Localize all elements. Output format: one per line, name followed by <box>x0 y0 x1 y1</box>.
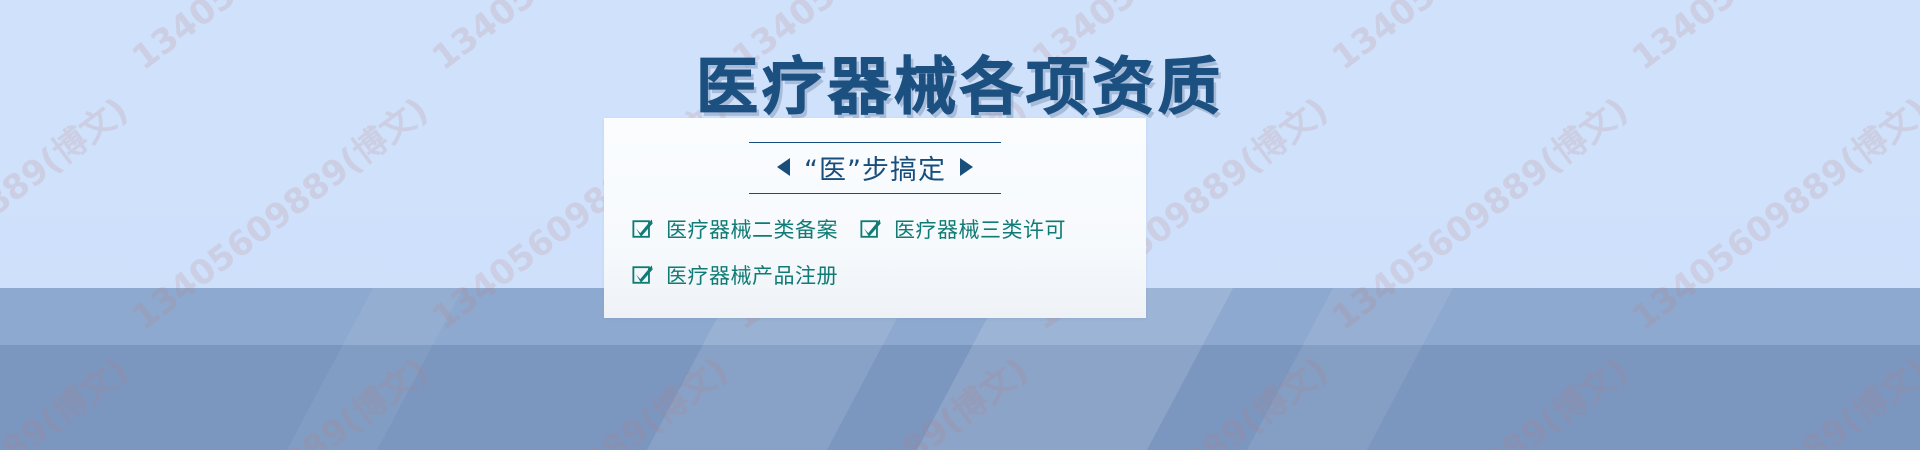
checklist-item[interactable]: 医疗器械产品注册 <box>632 260 838 290</box>
checkbox-checked-icon <box>632 264 654 286</box>
checklist-item-label: 医疗器械产品注册 <box>666 260 838 290</box>
checklist: 医疗器械二类备案 医疗器械三类许可 医疗器械产品注册 <box>604 214 1146 306</box>
checklist-row: 医疗器械产品注册 <box>632 260 1118 290</box>
header-rule-top <box>749 142 1001 143</box>
header-rule-bottom <box>749 193 1001 194</box>
checklist-item[interactable]: 医疗器械三类许可 <box>860 214 1066 244</box>
checkbox-checked-icon <box>860 218 882 240</box>
checklist-item[interactable]: 医疗器械二类备案 <box>632 214 838 244</box>
page-title: 医疗器械各项资质 <box>0 36 1920 126</box>
checkbox-checked-icon <box>632 218 654 240</box>
qualification-card: “医”步搞定 医疗器械二类备案 医疗器械三类许可 <box>604 118 1146 318</box>
checklist-item-label: 医疗器械三类许可 <box>894 214 1066 244</box>
checklist-item-label: 医疗器械二类备案 <box>666 214 838 244</box>
right-triangle-icon <box>960 158 973 176</box>
card-header: “医”步搞定 <box>725 136 1025 198</box>
left-triangle-icon <box>777 158 790 176</box>
floor-band-lower <box>0 345 1920 450</box>
checklist-row: 医疗器械二类备案 医疗器械三类许可 <box>632 214 1118 244</box>
banner-stage: 13405609889(博文)13405609889(博文)1340560988… <box>0 0 1920 450</box>
card-header-text: “医”步搞定 <box>804 148 946 187</box>
